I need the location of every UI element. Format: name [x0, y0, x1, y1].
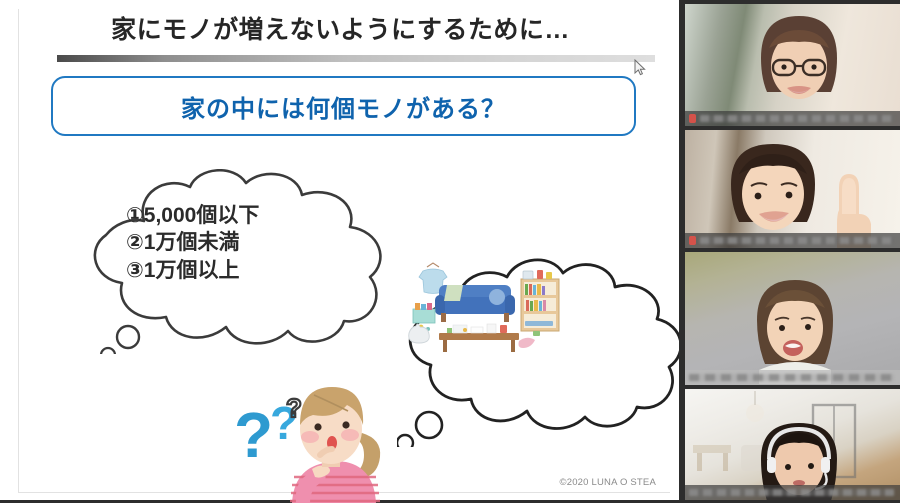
slide-title: 家にモノが増えないようにするために… — [19, 15, 662, 45]
trash-bag-icon — [409, 324, 430, 343]
participant-video-rail[interactable] — [679, 0, 900, 500]
room-thought-bubble — [397, 257, 697, 447]
blue-sofa-icon — [435, 285, 515, 322]
low-table-icon — [439, 324, 519, 352]
option-3: ③1万個以上 — [126, 257, 366, 284]
participant-face — [747, 14, 851, 126]
participant-name-bar — [685, 485, 900, 500]
mic-muted-icon — [689, 114, 696, 123]
thinking-woman-illustration — [234, 377, 424, 503]
mic-muted-icon — [689, 236, 696, 245]
participant-tile[interactable] — [685, 130, 900, 248]
mouse-cursor-icon — [634, 59, 646, 76]
participant-name-blurred — [700, 237, 894, 244]
copyright-notice: ©2020 LUNA O STEA — [560, 477, 656, 488]
participant-face — [743, 278, 847, 384]
option-1: ①5,000個以下 — [126, 202, 366, 229]
shared-content-area[interactable]: 家にモノが増えないようにするために… 家の中には何個モノがある？ ①5,000個… — [0, 0, 679, 500]
participant-name-bar — [685, 111, 900, 126]
options-list: ①5,000個以下 ②1万個未満 ③1万個以上 — [126, 202, 366, 284]
participant-name-blurred — [700, 115, 894, 122]
participant-tile[interactable] — [685, 389, 900, 500]
participant-name-bar — [685, 370, 900, 385]
participant-name-blurred — [689, 374, 894, 381]
option-2: ②1万個未満 — [126, 229, 366, 256]
bookshelf-icon — [521, 270, 559, 331]
cluttered-room-illustration — [397, 257, 582, 362]
question-box-text: 家の中には何個モノがある？ — [181, 89, 506, 124]
presentation-slide: 家にモノが増えないようにするために… 家の中には何個モノがある？ ①5,000個… — [18, 9, 670, 493]
options-thought-bubble: ①5,000個以下 ②1万個未満 ③1万個以上 — [74, 169, 404, 354]
question-box: 家の中には何個モノがある？ — [51, 76, 636, 136]
participant-name-bar — [685, 233, 900, 248]
title-divider — [57, 55, 655, 62]
participant-name-blurred — [689, 489, 894, 496]
participant-tile[interactable] — [685, 4, 900, 126]
screen-share-window: 家にモノが増えないようにするために… 家の中には何個モノがある？ ①5,000個… — [0, 0, 900, 500]
participant-tile-active-speaker[interactable] — [685, 252, 900, 385]
floor-clutter-icon — [519, 331, 541, 348]
